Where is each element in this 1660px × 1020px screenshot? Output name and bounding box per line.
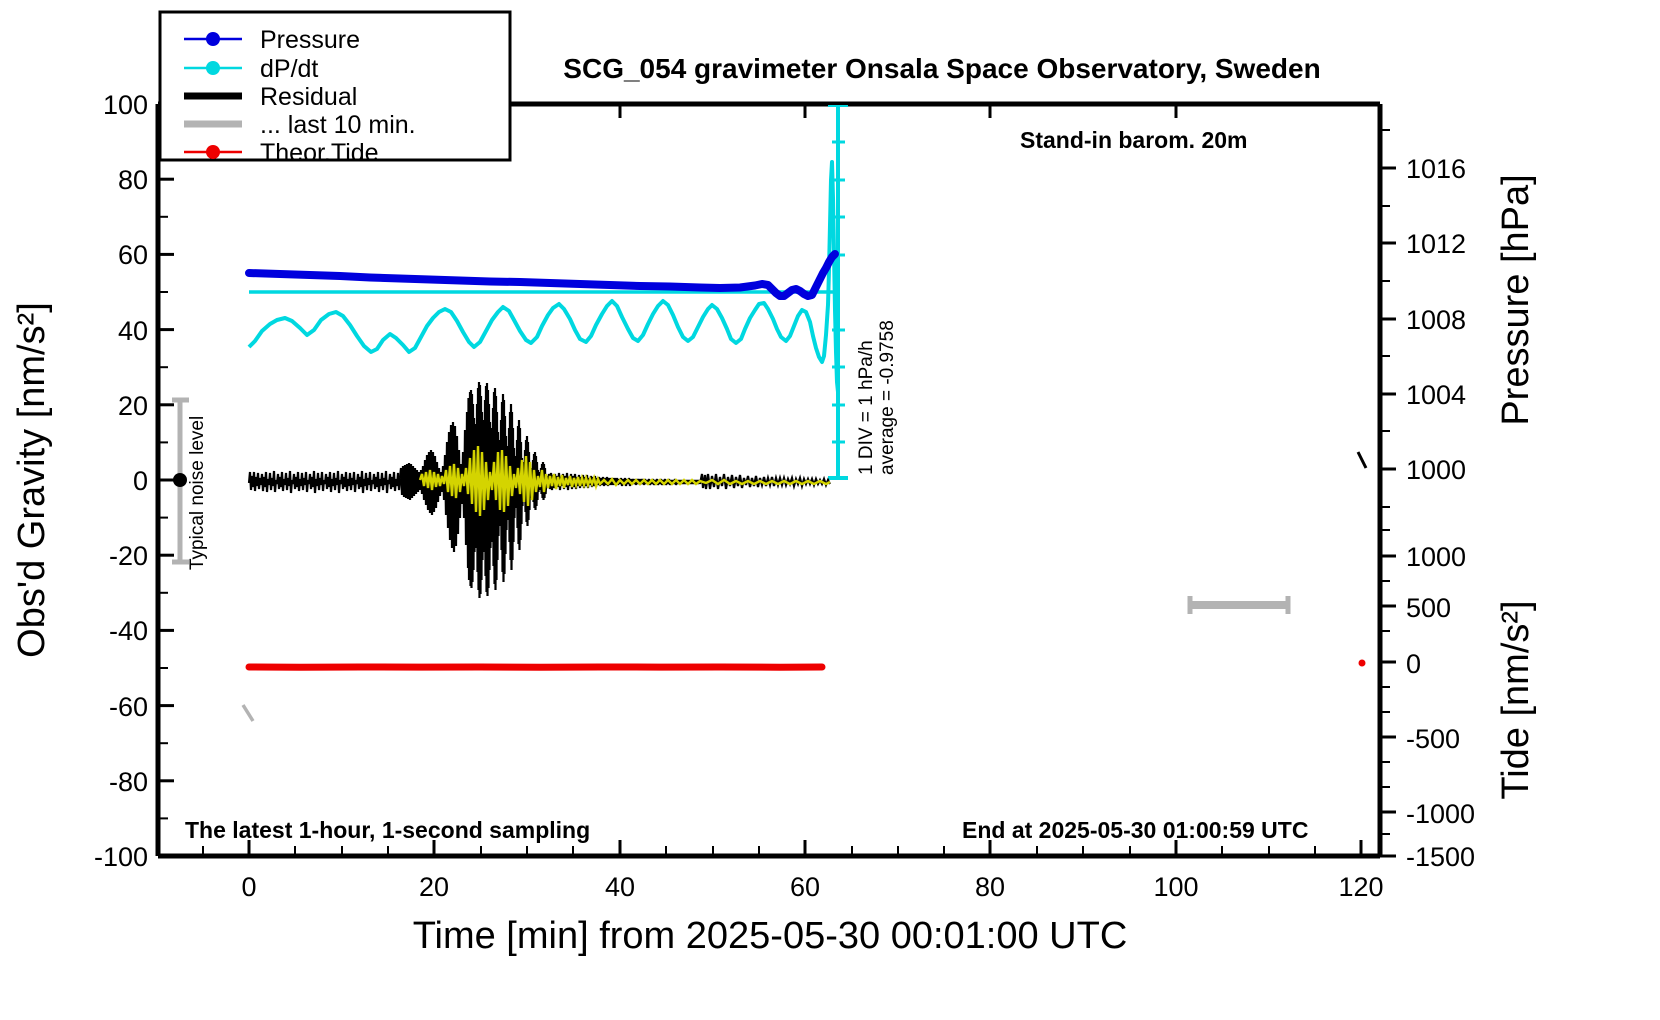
x-tick-label: 40 — [605, 872, 635, 902]
tide-tick-label: 500 — [1406, 593, 1451, 623]
x-tick-label: 20 — [419, 872, 449, 902]
y-tick-label: -40 — [109, 616, 148, 646]
pressure-tick-label: 1008 — [1406, 305, 1466, 335]
x-axis-title: Time [min] from 2025-05-30 00:01:00 UTC — [413, 915, 1128, 957]
tide-tick-label: -1500 — [1406, 842, 1475, 872]
pressure-tick-label: 1016 — [1406, 154, 1466, 184]
tide-tick-label: 1000 — [1406, 542, 1466, 572]
div-scale-label: 1 DIV = 1 hPa/h — [856, 340, 877, 475]
x-tick-label: 100 — [1153, 872, 1198, 902]
y-tick-label: -20 — [109, 541, 148, 571]
y-tick-label: -80 — [109, 767, 148, 797]
x-tick-label: 0 — [241, 872, 256, 902]
legend[interactable]: Pressure dP/dt Residual ... last 10 min.… — [160, 12, 510, 167]
gravimeter-plot-page: 100 80 60 40 20 0 -20 -40 -60 -80 -100 — [0, 0, 1660, 1020]
pressure-tick-label: 1000 — [1406, 455, 1466, 485]
pressure-tick-label: 1004 — [1406, 380, 1466, 410]
pressure-marker-icon — [206, 32, 220, 46]
chart-svg: 100 80 60 40 20 0 -20 -40 -60 -80 -100 — [0, 0, 1660, 1020]
y-tick-label: -100 — [94, 842, 148, 872]
pressure-tick-label: 1012 — [1406, 229, 1466, 259]
x-tick-label: 120 — [1338, 872, 1383, 902]
tide-marker-dot — [1359, 660, 1366, 667]
y-tick-label: 0 — [133, 466, 148, 496]
tide-axis-title: Tide [nm/s²] — [1495, 600, 1537, 799]
tide-tick-label: -1000 — [1406, 799, 1475, 829]
y-tick-label: 40 — [118, 316, 148, 346]
legend-label: Theor.Tide — [260, 139, 379, 167]
average-value-label: average = -0.9758 — [877, 320, 898, 475]
tide-marker-icon — [206, 145, 220, 159]
x-tick-label: 60 — [790, 872, 820, 902]
y-tick-label: 20 — [118, 391, 148, 421]
x-tick-label: 80 — [975, 872, 1005, 902]
legend-label: ... last 10 min. — [260, 111, 416, 139]
bottom-right-note: End at 2025-05-30 01:00:59 UTC — [962, 817, 1308, 843]
y-tick-label: 60 — [118, 240, 148, 270]
legend-label: Pressure — [260, 26, 360, 54]
bottom-left-note: The latest 1-hour, 1-second sampling — [185, 817, 590, 843]
tide-tick-label: -500 — [1406, 724, 1460, 754]
tide-tick-label: 0 — [1406, 649, 1421, 679]
standin-barom-note: Stand-in barom. 20m — [1020, 127, 1247, 153]
y-tick-label: 100 — [103, 90, 148, 120]
pressure-axis-title: Pressure [hPa] — [1495, 174, 1537, 425]
legend-label: dP/dt — [260, 55, 318, 83]
page-title: SCG_054 gravimeter Onsala Space Observat… — [563, 53, 1320, 84]
typical-noise-level-label: Typical noise level — [187, 416, 208, 570]
y-axis-title: Obs'd Gravity [nm/s²] — [11, 302, 53, 658]
legend-label: Residual — [260, 83, 357, 111]
dpdt-marker-icon — [206, 61, 220, 75]
y-tick-label: -60 — [109, 692, 148, 722]
y-tick-label: 80 — [118, 165, 148, 195]
